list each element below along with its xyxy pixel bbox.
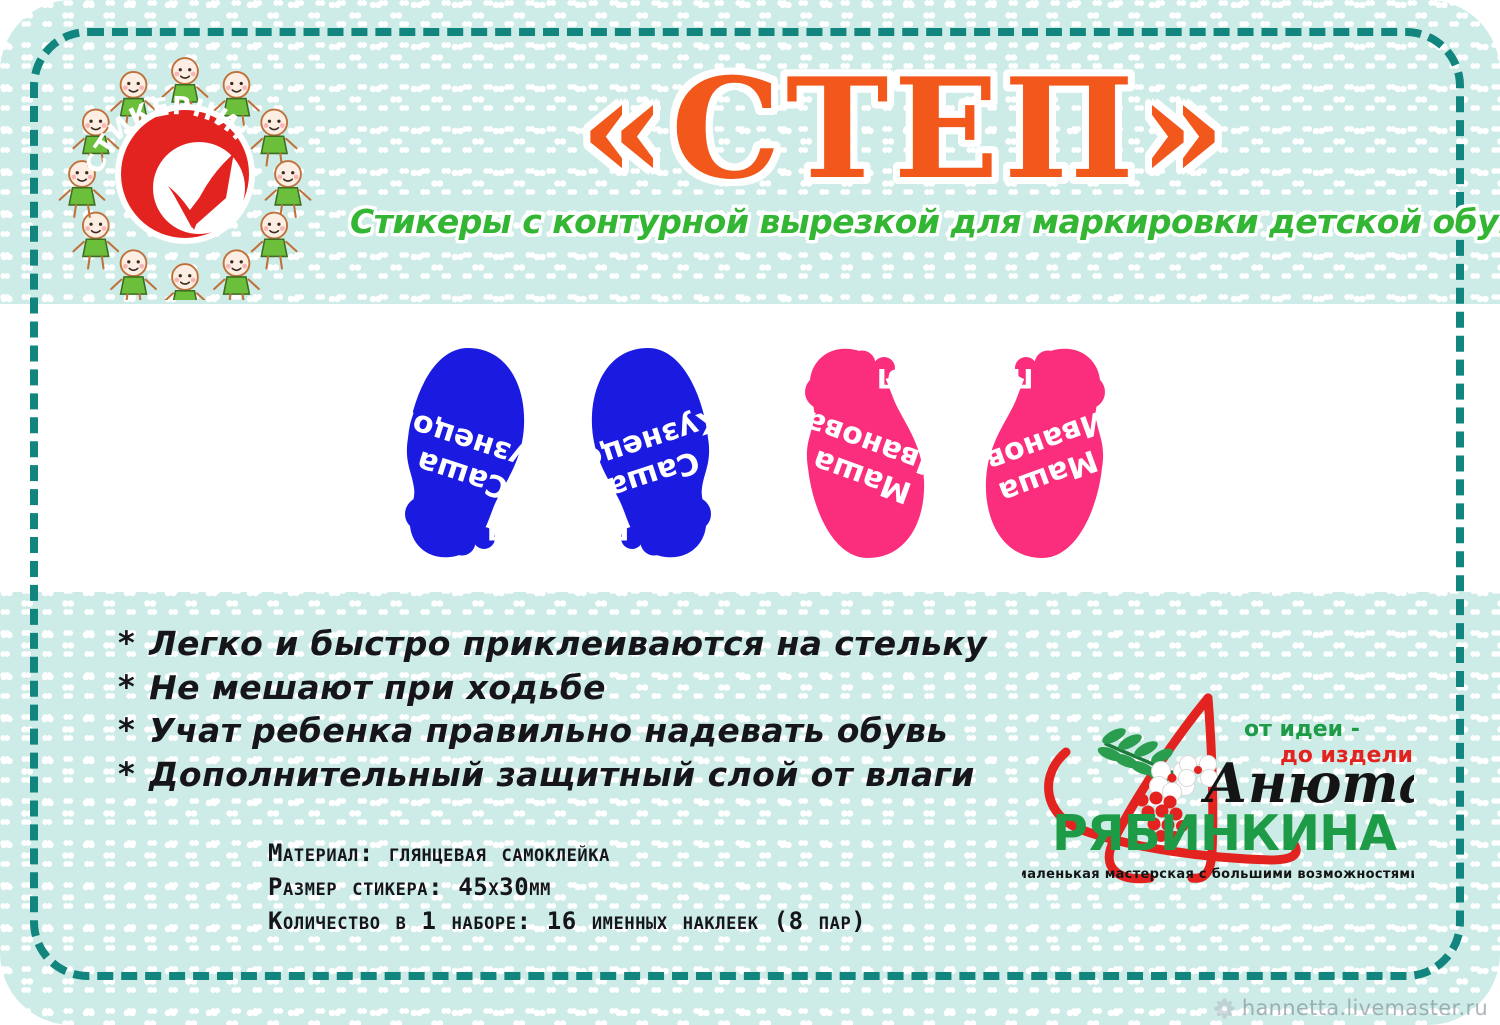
sticker-preview-row: Саша Кузнецов Л xyxy=(390,332,1120,580)
stikerni-logo[interactable]: СТИКЕРНИ! xyxy=(52,48,318,300)
feature-label: Легко и быстро приклеиваются на стельку xyxy=(149,622,987,666)
flower-icon xyxy=(1214,998,1235,1019)
headline-block: «СТЕП» Стикеры с контурной вырезкой для … xyxy=(350,60,1460,300)
feature-item: * Легко и быстро приклеиваются на стельк… xyxy=(118,622,1018,666)
brand-tagline-top: от идеи - xyxy=(1244,717,1360,742)
page-subtitle: Стикеры с контурной вырезкой для маркиро… xyxy=(350,204,1460,240)
brand-slogan: маленькая мастерская с большими возможно… xyxy=(1022,867,1414,882)
feature-label: Дополнительный защитный слой от влаги xyxy=(149,753,975,797)
features-list: * Легко и быстро приклеиваются на стельк… xyxy=(118,622,1018,796)
sticker-side-mark: П xyxy=(607,514,630,545)
sticker-pink-right[interactable]: Маша Иванова П xyxy=(960,336,1120,566)
bullet-star-icon: * xyxy=(118,622,135,664)
brand-logo[interactable]: Анюта от идеи - до изделий РЯБИНКИНА мал… xyxy=(1022,692,1414,892)
spec-quantity: Количество в 1 наборе: 16 именных наклее… xyxy=(268,904,866,938)
watermark: hannetta.livemaster.ru xyxy=(1214,996,1488,1020)
sticker-blue-right[interactable]: Саша Кузнецов П xyxy=(566,340,726,570)
feature-label: Учат ребенка правильно надевать обувь xyxy=(149,709,948,753)
brand-tagline-bottom: до изделий xyxy=(1280,743,1414,768)
spec-size: Размер стикера: 45х30мм xyxy=(268,870,866,904)
page-title: «СТЕП» xyxy=(350,60,1460,198)
sticker-side-mark: Л xyxy=(877,362,899,393)
bullet-star-icon: * xyxy=(118,709,135,751)
poster-canvas: СТИКЕРНИ! «СТЕП» Стикеры с контурной выр… xyxy=(0,0,1500,1025)
spec-material: Материал: глянцевая самоклейка xyxy=(268,836,866,870)
watermark-text: hannetta.livemaster.ru xyxy=(1242,996,1488,1020)
specs-block: Материал: глянцевая самоклейка Размер ст… xyxy=(268,836,866,938)
feature-item: * Учат ребенка правильно надевать обувь xyxy=(118,709,1018,753)
feature-item: * Не мешают при ходьбе xyxy=(118,666,1018,710)
sticker-blue-left[interactable]: Саша Кузнецов Л xyxy=(390,340,550,570)
feature-item: * Дополнительный защитный слой от влаги xyxy=(118,753,1018,797)
bullet-star-icon: * xyxy=(118,666,135,708)
sticker-side-mark: П xyxy=(1011,362,1034,393)
feature-label: Не мешают при ходьбе xyxy=(149,666,606,710)
bullet-star-icon: * xyxy=(118,753,135,795)
sticker-pink-left[interactable]: Маша Иванова Л xyxy=(790,336,950,566)
sticker-side-mark: Л xyxy=(487,514,509,545)
brand-name-block: РЯБИНКИНА xyxy=(1052,805,1397,862)
